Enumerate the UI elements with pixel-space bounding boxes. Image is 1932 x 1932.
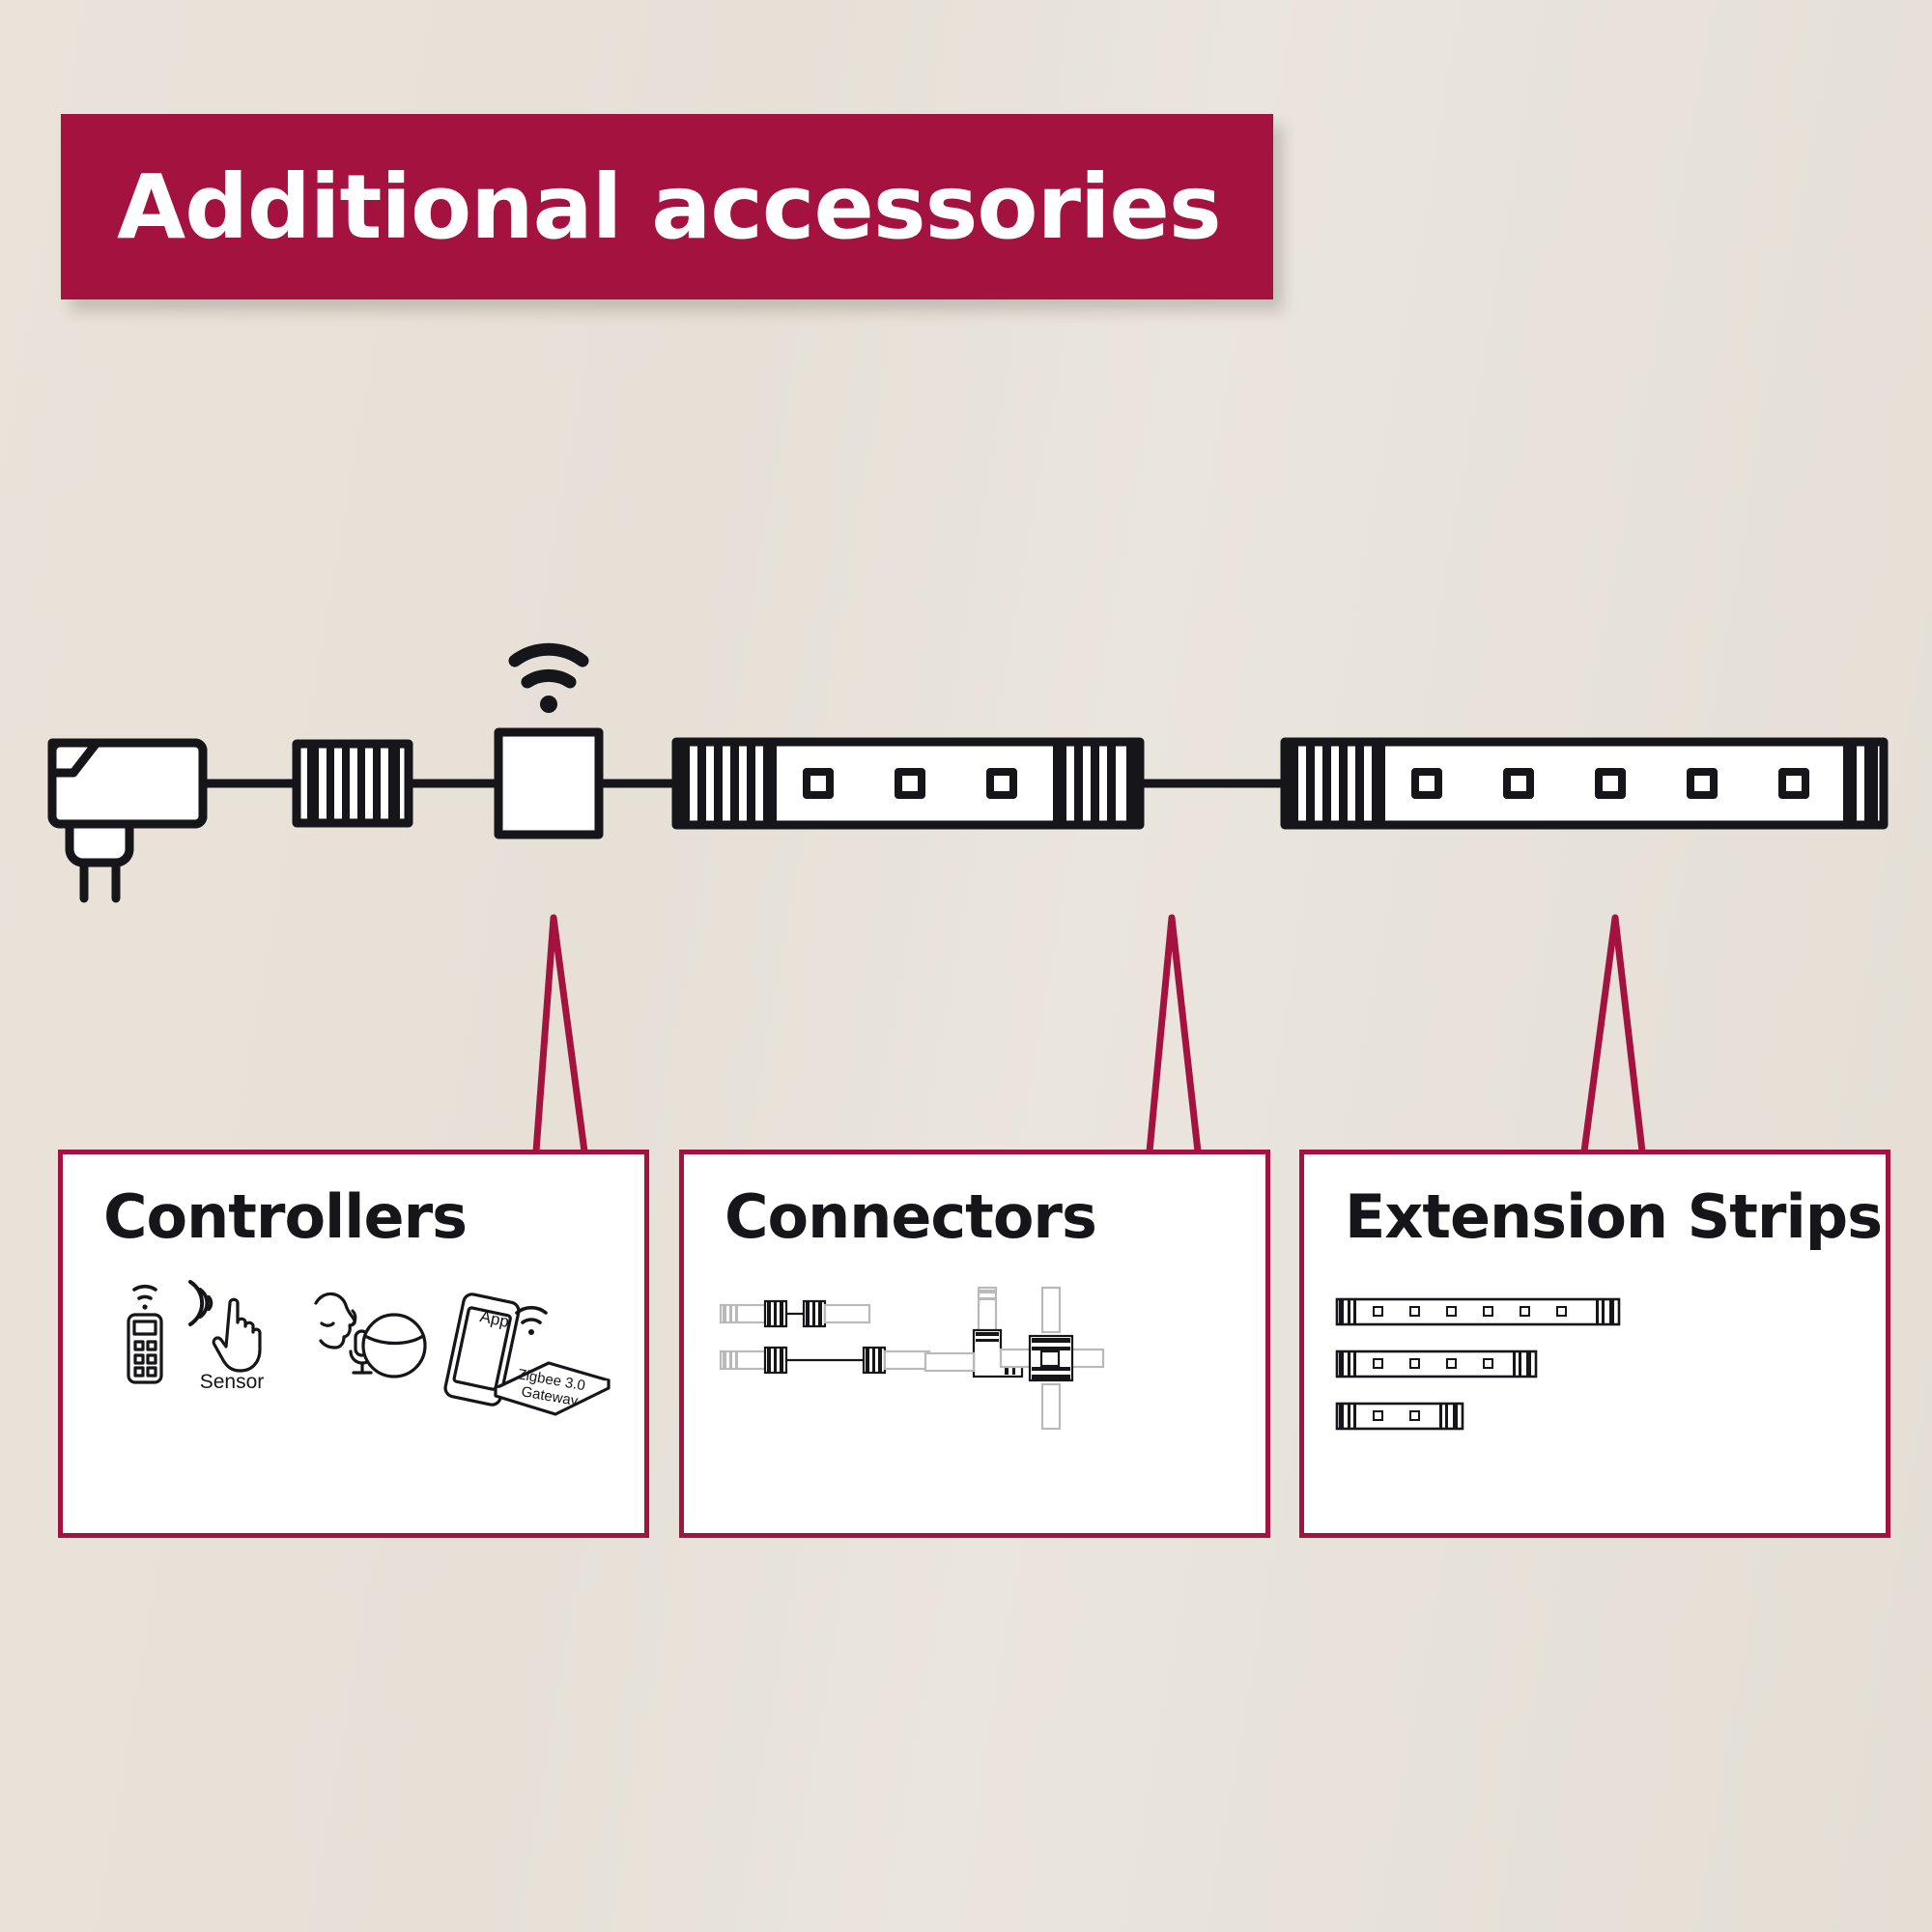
controller-module-icon <box>498 732 599 835</box>
power-supply-icon <box>52 743 203 898</box>
card-extensions-art <box>1304 1270 1886 1541</box>
led-strip-2-icon <box>1285 742 1884 825</box>
connector-block-1 <box>297 744 409 823</box>
extension-strip-long-icon <box>1337 1299 1619 1324</box>
card-controllers-title: Controllers <box>103 1181 467 1252</box>
card-connectors-title: Connectors <box>724 1181 1096 1252</box>
card-controllers[interactable]: Controllers <box>58 1150 649 1538</box>
sensor-label: Sensor <box>200 1371 265 1393</box>
wifi-small-icon <box>517 1308 546 1335</box>
extension-strip-medium-icon <box>1337 1351 1536 1377</box>
cross-connector-icon <box>1001 1288 1103 1429</box>
motion-sensor-icon <box>190 1282 260 1371</box>
callout-pointers <box>0 898 1932 1169</box>
pointer-extensions <box>1584 918 1642 1151</box>
led-strip-1-icon <box>676 742 1140 825</box>
title-banner: Additional accessories <box>61 114 1273 299</box>
card-controllers-art: Sensor App <box>63 1270 644 1541</box>
pointer-controllers <box>536 918 584 1151</box>
pointer-connectors <box>1150 918 1198 1151</box>
wifi-icon <box>515 649 582 713</box>
page-title: Additional accessories <box>117 156 1221 259</box>
zigbee-gateway-icon: Zigbee 3.0 Gateway <box>496 1363 609 1414</box>
led-system-schematic <box>0 618 1932 908</box>
card-connectors[interactable]: Connectors <box>679 1150 1270 1538</box>
straight-connector-icon <box>721 1301 929 1373</box>
card-connectors-art <box>684 1270 1265 1541</box>
card-extensions[interactable]: Extension Strips <box>1299 1150 1890 1538</box>
extension-strip-short-icon <box>1337 1404 1463 1429</box>
voice-control-icon <box>316 1293 425 1377</box>
remote-control-icon <box>128 1287 161 1382</box>
card-extensions-title: Extension Strips <box>1345 1181 1882 1252</box>
